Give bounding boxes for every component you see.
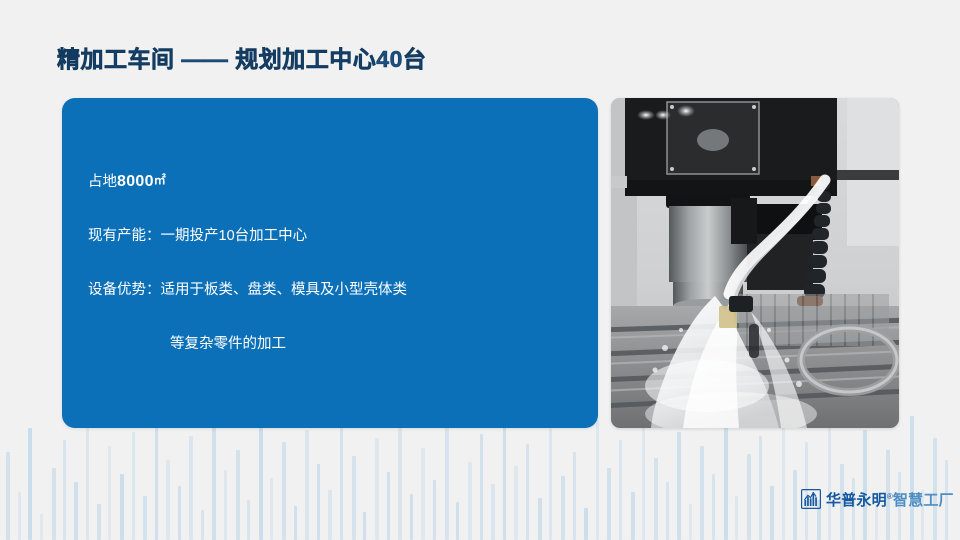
decorative-bar: [236, 450, 240, 540]
decorative-bar: [910, 416, 914, 540]
decorative-bar: [735, 496, 738, 540]
decorative-bar: [155, 414, 158, 540]
decorative-bar: [421, 448, 425, 540]
decorative-bar: [607, 468, 611, 540]
decorative-bar: [108, 446, 111, 540]
decorative-bar: [340, 422, 343, 540]
decorative-bar: [410, 494, 413, 540]
decorative-bar: [97, 504, 101, 540]
decorative-bar: [747, 454, 751, 540]
decorative-bar: [178, 486, 181, 540]
info-line-area-unit: ㎡: [154, 173, 166, 187]
decorative-bar: [468, 462, 472, 540]
decorative-bar: [724, 422, 728, 540]
decorative-bar: [561, 476, 565, 540]
decorative-bar: [770, 486, 774, 540]
machining-center-photo-graphic: [611, 98, 899, 428]
decorative-bar: [828, 426, 831, 540]
decorative-bar: [143, 496, 147, 540]
decorative-bar: [782, 418, 785, 540]
decorative-barcode-pattern: [0, 412, 960, 540]
info-panel-text-block: 占地8000㎡ 现有产能：一期投产10台加工中心 设备优势：适用于板类、盘类、模…: [88, 170, 580, 355]
decorative-bar: [63, 440, 66, 540]
decorative-bar: [294, 506, 297, 540]
brand-name: 华普永明: [826, 492, 887, 509]
brand-subtitle: 智慧工厂: [893, 492, 954, 509]
decorative-bar: [259, 418, 263, 540]
decorative-bar: [526, 444, 529, 540]
decorative-bar: [863, 430, 867, 540]
slide-root: 精加工车间 —— 规划加工中心40台 占地8000㎡ 现有产能：一期投产10台加…: [0, 0, 960, 540]
decorative-bar: [224, 470, 227, 540]
decorative-bar: [387, 472, 390, 540]
decorative-bar: [875, 506, 878, 540]
brand-logo-text: 华普永明®智慧工厂: [826, 487, 954, 511]
info-line-advantage: 设备优势：适用于板类、盘类、模具及小型壳体类: [88, 280, 580, 301]
page-title: 精加工车间 —— 规划加工中心40台: [57, 40, 426, 74]
decorative-bar: [282, 442, 286, 540]
decorative-bar: [86, 420, 89, 540]
decorative-bar: [456, 502, 459, 540]
decorative-bar: [352, 456, 356, 540]
decorative-bar: [677, 432, 681, 540]
decorative-bar: [712, 474, 715, 540]
brand-logo: 华普永明®智慧工厂: [801, 487, 954, 511]
decorative-bar: [166, 460, 170, 540]
decorative-bar: [654, 458, 658, 540]
decorative-bar: [619, 440, 622, 540]
decorative-bar: [596, 420, 599, 540]
decorative-bar: [514, 466, 518, 540]
decorative-bar: [132, 432, 135, 540]
decorative-bar: [363, 512, 366, 540]
decorative-bar: [201, 510, 204, 540]
decorative-bar: [270, 478, 273, 540]
decorative-bar: [74, 482, 78, 540]
decorative-bar: [480, 434, 483, 540]
decorative-bar: [18, 492, 21, 540]
decorative-bar: [6, 452, 10, 540]
decorative-bar: [491, 484, 495, 540]
decorative-bar: [666, 482, 669, 540]
decorative-bar: [305, 430, 309, 540]
info-line-area-prefix: 占地: [88, 174, 117, 190]
decorative-bar: [573, 452, 576, 540]
decorative-bar: [759, 436, 762, 540]
decorative-bar: [120, 474, 124, 540]
decorative-bar: [689, 504, 692, 540]
info-line-area-value: 8000: [117, 173, 154, 190]
decorative-bar: [433, 480, 436, 540]
decorative-bar: [793, 470, 797, 540]
factory-bars-logo-icon: [801, 489, 821, 509]
decorative-bar: [328, 490, 332, 540]
decorative-bar: [375, 438, 379, 540]
decorative-bar: [247, 500, 250, 540]
decorative-bar: [52, 468, 56, 540]
info-line-area: 占地8000㎡: [88, 170, 580, 193]
decorative-bar: [503, 412, 506, 540]
decorative-bar: [28, 428, 32, 540]
decorative-bar: [398, 416, 402, 540]
machining-center-photo: [611, 98, 899, 428]
decorative-bar: [445, 426, 449, 540]
decorative-bar: [584, 508, 588, 540]
info-line-capacity: 现有产能：一期投产10台加工中心: [88, 226, 580, 247]
decorative-bar: [212, 424, 216, 540]
decorative-bar: [538, 498, 542, 540]
decorative-bar: [549, 428, 552, 540]
decorative-bar: [700, 446, 704, 540]
decorative-bar: [317, 464, 320, 540]
decorative-bar: [189, 436, 193, 540]
info-line-advantage-continued: 等复杂零件的加工: [88, 334, 580, 355]
info-panel: 占地8000㎡ 现有产能：一期投产10台加工中心 设备优势：适用于板类、盘类、模…: [62, 98, 598, 428]
decorative-bar: [40, 514, 43, 540]
decorative-bar: [631, 492, 635, 540]
decorative-bar: [642, 414, 645, 540]
